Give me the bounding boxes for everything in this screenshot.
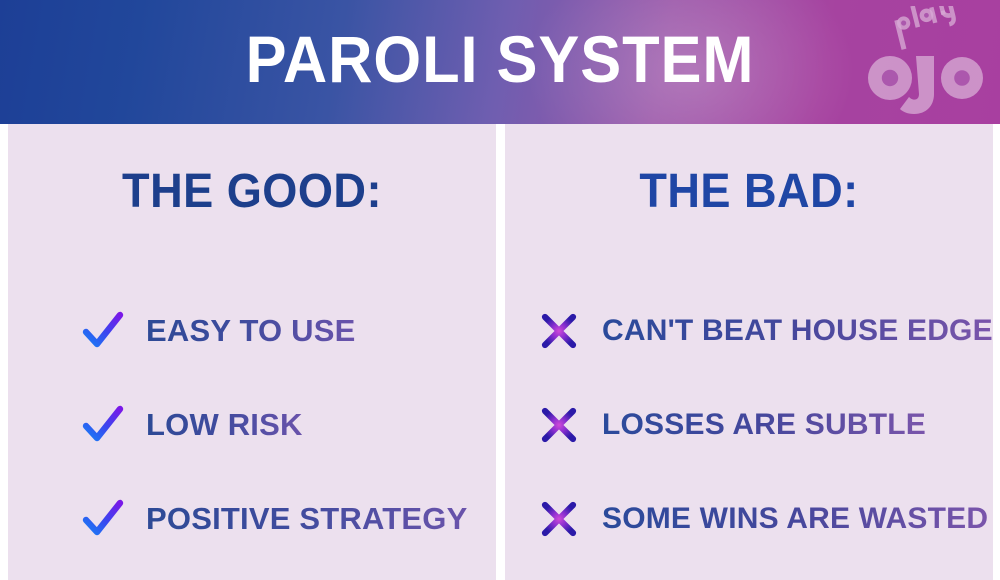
panel-bad-list: CAN'T BEAT HOUSE EDGE [505, 284, 993, 566]
list-item: LOW RISK [8, 378, 496, 472]
header-banner: PAROLI SYSTEM [0, 0, 1000, 124]
list-item-label: SOME WINS ARE WASTED [602, 502, 988, 536]
content-area: THE GOOD: [0, 124, 1000, 580]
panel-bad-title: THE BAD: [520, 164, 979, 219]
playojo-logo [864, 6, 986, 116]
panel-good-list: EASY TO USE [8, 284, 496, 566]
list-item-label: LOSSES ARE SUBTLE [602, 408, 926, 442]
panel-good-title: THE GOOD: [23, 164, 482, 219]
list-item-label: EASY TO USE [146, 313, 356, 349]
list-item: CAN'T BEAT HOUSE EDGE [505, 284, 993, 378]
check-icon [82, 310, 124, 352]
cross-icon [538, 404, 580, 446]
panel-good: THE GOOD: [8, 124, 496, 580]
list-item-label: LOW RISK [146, 407, 303, 443]
list-item: SOME WINS ARE WASTED [505, 472, 993, 566]
list-item: LOSSES ARE SUBTLE [505, 378, 993, 472]
list-item-label: CAN'T BEAT HOUSE EDGE [602, 314, 993, 348]
cross-icon [538, 310, 580, 352]
list-item-label: POSITIVE STRATEGY [146, 501, 467, 537]
list-item: POSITIVE STRATEGY [8, 472, 496, 566]
cross-icon [538, 498, 580, 540]
infographic-page: PAROLI SYSTEM [0, 0, 1000, 580]
check-icon [82, 404, 124, 446]
page-title: PAROLI SYSTEM [35, 14, 965, 104]
list-item: EASY TO USE [8, 284, 496, 378]
panel-bad: THE BAD: [505, 124, 993, 580]
check-icon [82, 498, 124, 540]
